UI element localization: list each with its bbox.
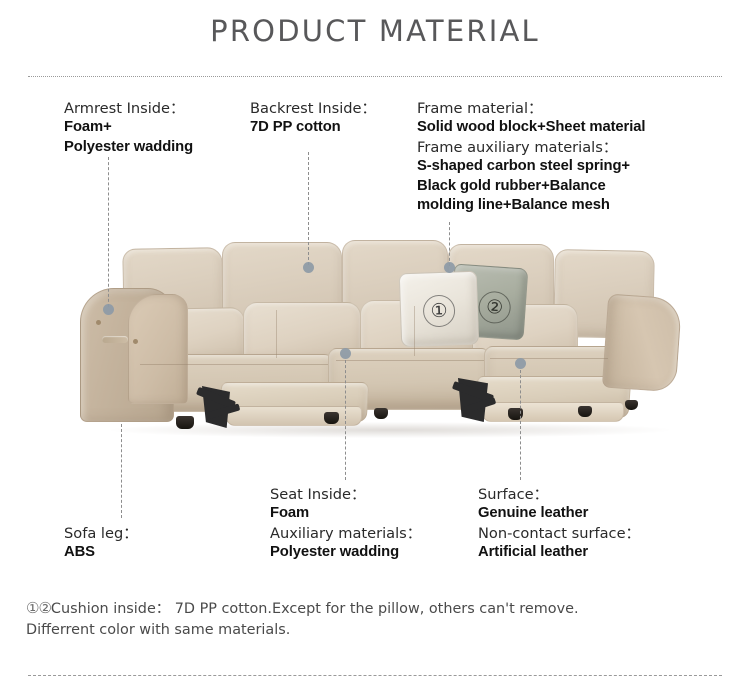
- leader-line-armrest: [108, 157, 109, 307]
- seat-inside-value: Foam: [270, 504, 421, 524]
- surface-value: Genuine leather: [478, 504, 640, 524]
- seat-inside-key: Seat Inside：: [270, 485, 421, 504]
- frame-material-value: molding line+Balance mesh: [417, 196, 645, 216]
- leader-line-sofaleg: [121, 424, 122, 518]
- sofa-leg: [324, 412, 339, 424]
- frame-material-value: S-shaped carbon steel spring+: [417, 157, 645, 177]
- label-seat-inside: Seat Inside：FoamAuxiliary materials：Poly…: [270, 485, 421, 563]
- cushion-seam: [414, 306, 415, 356]
- leader-line-backrest: [308, 152, 309, 265]
- backrest-inside-value: 7D PP cotton: [250, 118, 376, 138]
- sofa-leg: [374, 408, 388, 419]
- label-backrest-inside: Backrest Inside：7D PP cotton: [250, 99, 376, 138]
- footnote-line-1: ①②Cushion inside： 7D PP cotton.Except fo…: [26, 598, 726, 620]
- armrest-stud: [133, 339, 138, 344]
- footrest-front-panel: [226, 406, 362, 426]
- seat-seam: [140, 364, 328, 365]
- footnote-markers: ①②: [26, 599, 51, 617]
- recliner-control-button: [102, 336, 128, 343]
- seat-inside-key: Auxiliary materials：: [270, 524, 421, 543]
- sofa-leg-key: Sofa leg：: [64, 524, 138, 543]
- page-title: PRODUCT MATERIAL: [0, 14, 750, 48]
- footnote-text-1: Cushion inside： 7D PP cotton.Except for …: [51, 601, 579, 617]
- sofa-leg: [578, 406, 592, 417]
- surface-key: Non-contact surface：: [478, 524, 640, 543]
- product-material-infographic: PRODUCT MATERIAL ② ①: [0, 0, 750, 697]
- cushion-seam: [276, 310, 277, 358]
- label-sofa-leg: Sofa leg：ABS: [64, 524, 138, 563]
- armrest-stud: [96, 320, 101, 325]
- leader-line-seat: [345, 360, 346, 480]
- frame-material-key: Frame material：: [417, 99, 645, 118]
- pillow-marker-2: ②: [478, 290, 512, 324]
- frame-material-value: Black gold rubber+Balance: [417, 177, 645, 197]
- armrest-inside-key: Armrest Inside：: [64, 99, 193, 118]
- sofa-product-image: ② ①: [80, 236, 690, 456]
- surface-value: Artificial leather: [478, 543, 640, 563]
- frame-material-key: Frame auxiliary materials：: [417, 138, 645, 157]
- seat-seam: [490, 358, 608, 359]
- label-surface: Surface：Genuine leatherNon-contact surfa…: [478, 485, 640, 563]
- seat-seam: [336, 360, 484, 361]
- leader-dot-armrest: [103, 304, 114, 315]
- footnote-line-2: Differrent color with same materials.: [26, 620, 726, 641]
- leader-dot-frame: [444, 262, 455, 273]
- frame-material-value: Solid wood block+Sheet material: [417, 118, 645, 138]
- leader-dot-seat: [340, 348, 351, 359]
- armrest-inside-value: Foam+: [64, 118, 193, 138]
- footnote: ①②Cushion inside： 7D PP cotton.Except fo…: [26, 598, 726, 641]
- divider-bottom: [28, 675, 722, 676]
- seat-inside-value: Polyester wadding: [270, 543, 421, 563]
- leader-line-frame: [449, 222, 450, 266]
- leader-dot-surface: [515, 358, 526, 369]
- divider-top: [28, 76, 722, 77]
- pillow-one: ①: [399, 271, 480, 348]
- leader-dot-backrest: [303, 262, 314, 273]
- armrest-right: [602, 294, 682, 393]
- label-armrest-inside: Armrest Inside：Foam+Polyester wadding: [64, 99, 193, 157]
- surface-key: Surface：: [478, 485, 640, 504]
- label-frame-material: Frame material：Solid wood block+Sheet ma…: [417, 99, 645, 216]
- armrest-inside-value: Polyester wadding: [64, 138, 193, 158]
- leader-line-surface: [520, 370, 521, 480]
- sofa-leg-value: ABS: [64, 543, 138, 563]
- backrest-inside-key: Backrest Inside：: [250, 99, 376, 118]
- sofa-leg: [176, 416, 194, 429]
- pillow-marker-1: ①: [423, 294, 456, 327]
- armrest-left-inner: [128, 294, 188, 404]
- sofa-leg: [625, 400, 638, 410]
- footrest-front-panel: [482, 402, 624, 422]
- sofa-shadow: [110, 422, 670, 438]
